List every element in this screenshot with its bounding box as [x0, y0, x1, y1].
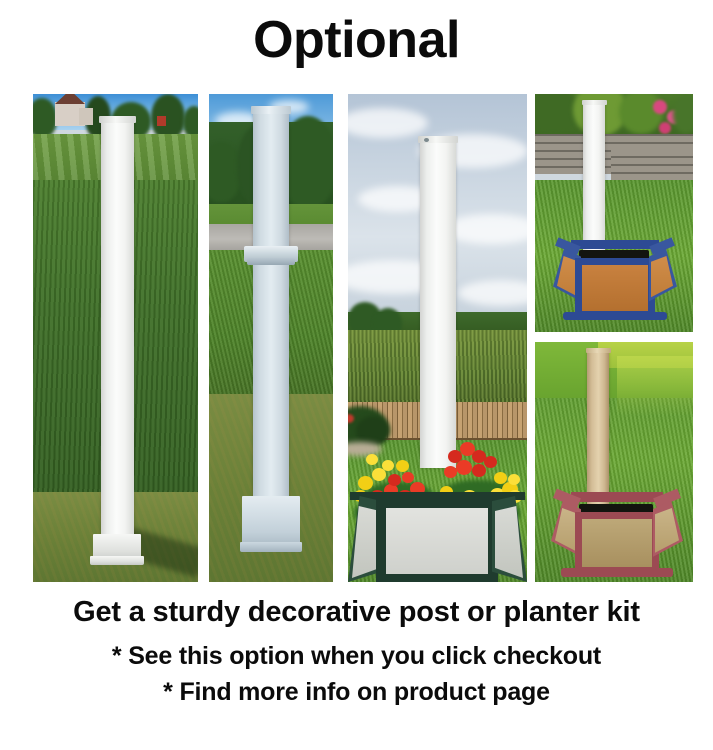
gallery-image-post-planter-flowers[interactable]: [348, 94, 527, 582]
gallery-image-post-roadside[interactable]: [209, 94, 333, 582]
hexagonal-planter: [551, 492, 683, 580]
hexagonal-planter: [553, 240, 677, 324]
product-image-gallery: [0, 94, 713, 582]
decorative-post: [101, 118, 134, 550]
gallery-image-cedar-blue-planter[interactable]: [535, 94, 693, 332]
caption-headline: Get a sturdy decorative post or planter …: [0, 596, 713, 629]
hexagonal-planter: [348, 492, 527, 582]
page-title: Optional: [0, 0, 713, 80]
caption-block: Get a sturdy decorative post or planter …: [0, 596, 713, 708]
caption-line-product-page: * Find more info on product page: [0, 676, 713, 709]
gallery-image-weathered-rose-planter[interactable]: [535, 342, 693, 582]
caption-line-checkout: * See this option when you click checkou…: [0, 640, 713, 673]
gallery-image-post-soybean-field[interactable]: [33, 94, 198, 582]
decorative-post: [253, 108, 289, 546]
